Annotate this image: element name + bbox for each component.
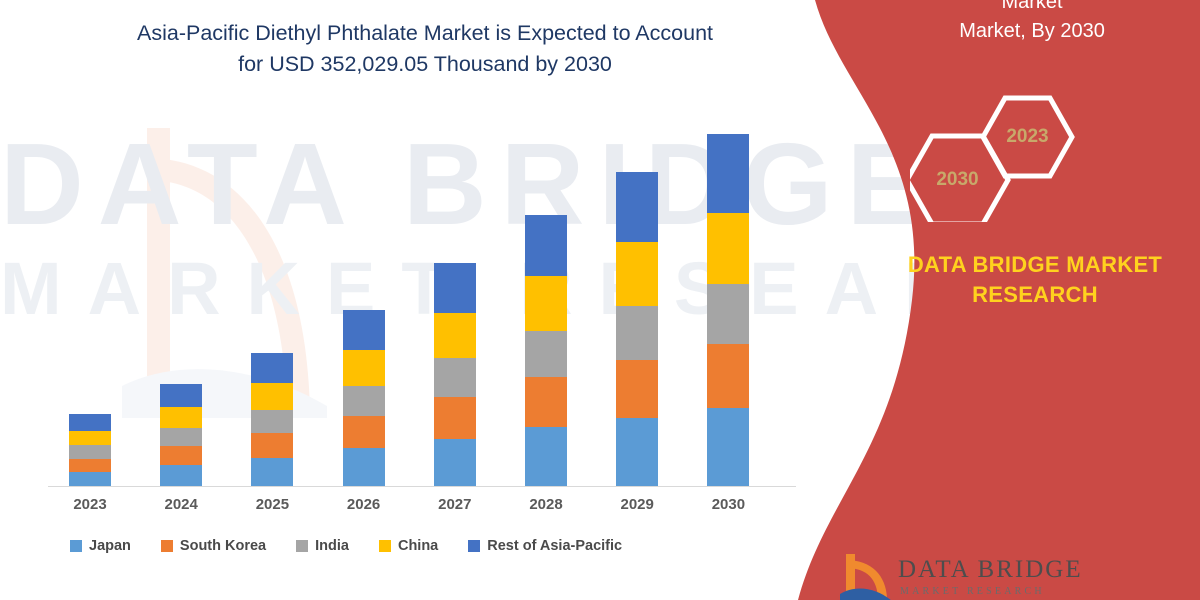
bar-2023 bbox=[69, 414, 111, 486]
title-line-2: for USD 352,029.05 Thousand by 2030 bbox=[60, 49, 790, 80]
bar-segment-rest-of-asia-pacific bbox=[525, 215, 567, 276]
bar-segment-china bbox=[343, 350, 385, 386]
bar-2028 bbox=[525, 215, 567, 486]
bar-2030 bbox=[707, 134, 749, 486]
bar-segment-japan bbox=[160, 465, 202, 486]
bar-segment-japan bbox=[616, 418, 658, 486]
bar-segment-india bbox=[616, 306, 658, 360]
legend-item-china[interactable]: China bbox=[379, 538, 438, 554]
legend-item-india[interactable]: India bbox=[296, 538, 349, 554]
x-axis-tick-labels: 20232024202520262027202820292030 bbox=[40, 496, 800, 524]
bar-segment-china bbox=[616, 242, 658, 306]
x-axis-label-2030: 2030 bbox=[698, 496, 758, 513]
bar-segment-rest-of-asia-pacific bbox=[160, 384, 202, 408]
bar-segment-japan bbox=[434, 439, 476, 486]
legend-item-japan[interactable]: Japan bbox=[70, 538, 131, 554]
bar-2027 bbox=[434, 263, 476, 486]
x-axis-label-2023: 2023 bbox=[60, 496, 120, 513]
logo-subtitle-text: MARKET RESEARCH bbox=[900, 586, 1045, 597]
title-line-1: Asia-Pacific Diethyl Phthalate Market is… bbox=[60, 18, 790, 49]
x-axis-label-2024: 2024 bbox=[151, 496, 211, 513]
legend-label: Rest of Asia-Pacific bbox=[487, 538, 622, 554]
x-axis-label-2029: 2029 bbox=[607, 496, 667, 513]
bar-segment-south-korea bbox=[69, 459, 111, 472]
bar-segment-south-korea bbox=[525, 377, 567, 427]
legend-swatch-icon bbox=[296, 540, 308, 552]
legend-item-south-korea[interactable]: South Korea bbox=[161, 538, 266, 554]
legend-label: Japan bbox=[89, 538, 131, 554]
year-hexagon-badges: 2023 2030 bbox=[910, 92, 1160, 222]
bar-segment-india bbox=[251, 410, 293, 433]
brand-line-2: RESEARCH bbox=[890, 280, 1180, 310]
bar-segment-china bbox=[69, 431, 111, 445]
bar-segment-south-korea bbox=[616, 360, 658, 418]
hexagon-badge-2030: 2030 bbox=[907, 136, 1008, 224]
bar-segment-india bbox=[69, 445, 111, 458]
legend-label: South Korea bbox=[180, 538, 266, 554]
bar-segment-japan bbox=[343, 448, 385, 486]
bar-segment-india bbox=[160, 428, 202, 446]
bar-segment-rest-of-asia-pacific bbox=[343, 310, 385, 350]
legend-swatch-icon bbox=[70, 540, 82, 552]
bar-segment-rest-of-asia-pacific bbox=[707, 134, 749, 213]
stacked-bar-chart bbox=[40, 100, 800, 490]
bar-2029 bbox=[616, 172, 658, 486]
bar-segment-south-korea bbox=[434, 397, 476, 439]
x-axis-label-2028: 2028 bbox=[516, 496, 576, 513]
bar-segment-india bbox=[343, 386, 385, 416]
company-logo: DATA BRIDGE MARKET RESEARCH bbox=[838, 552, 1178, 600]
bar-segment-japan bbox=[69, 472, 111, 486]
right-red-panel: Market Market, By 2030 2023 2030 DATA BR… bbox=[780, 0, 1200, 600]
bar-2025 bbox=[251, 353, 293, 486]
legend-swatch-icon bbox=[161, 540, 173, 552]
bar-segment-south-korea bbox=[160, 446, 202, 465]
chart-legend: JapanSouth KoreaIndiaChinaRest of Asia-P… bbox=[70, 538, 780, 554]
infographic-root: DATA BRIDGE MARKET RESEARCH Asia-Pacific… bbox=[0, 0, 1200, 600]
page-title: Asia-Pacific Diethyl Phthalate Market is… bbox=[60, 18, 790, 79]
panel-heading-line-1: Market bbox=[882, 0, 1182, 17]
logo-name-text: DATA BRIDGE bbox=[898, 556, 1083, 584]
bar-segment-china bbox=[707, 213, 749, 285]
bar-segment-rest-of-asia-pacific bbox=[434, 263, 476, 313]
bar-segment-india bbox=[707, 284, 749, 344]
x-axis-label-2025: 2025 bbox=[242, 496, 302, 513]
bar-segment-rest-of-asia-pacific bbox=[69, 414, 111, 431]
legend-label: India bbox=[315, 538, 349, 554]
x-axis-line bbox=[48, 486, 796, 487]
bar-2024 bbox=[160, 384, 202, 486]
bar-segment-rest-of-asia-pacific bbox=[616, 172, 658, 242]
x-axis-label-2027: 2027 bbox=[425, 496, 485, 513]
bar-segment-japan bbox=[251, 458, 293, 486]
bar-segment-south-korea bbox=[707, 344, 749, 408]
x-axis-label-2026: 2026 bbox=[334, 496, 394, 513]
brand-line-1: DATA BRIDGE MARKET bbox=[890, 250, 1180, 280]
bar-segment-china bbox=[434, 313, 476, 358]
legend-label: China bbox=[398, 538, 438, 554]
legend-swatch-icon bbox=[379, 540, 391, 552]
bar-segment-japan bbox=[525, 427, 567, 486]
bar-segment-rest-of-asia-pacific bbox=[251, 353, 293, 383]
bar-segment-india bbox=[525, 331, 567, 377]
bar-segment-south-korea bbox=[343, 416, 385, 448]
bar-2026 bbox=[343, 310, 385, 486]
panel-heading-line-2: Market, By 2030 bbox=[882, 17, 1182, 46]
legend-swatch-icon bbox=[468, 540, 480, 552]
bar-segment-china bbox=[525, 276, 567, 331]
bar-segment-india bbox=[434, 358, 476, 397]
legend-item-rest-of-asia-pacific[interactable]: Rest of Asia-Pacific bbox=[468, 538, 622, 554]
panel-heading: Market Market, By 2030 bbox=[882, 0, 1182, 46]
bar-segment-china bbox=[251, 383, 293, 410]
brand-name: DATA BRIDGE MARKET RESEARCH bbox=[890, 250, 1180, 309]
bar-segment-south-korea bbox=[251, 433, 293, 458]
bar-segment-japan bbox=[707, 408, 749, 486]
bar-segment-china bbox=[160, 407, 202, 428]
hexagon-badge-2023: 2023 bbox=[983, 98, 1072, 176]
